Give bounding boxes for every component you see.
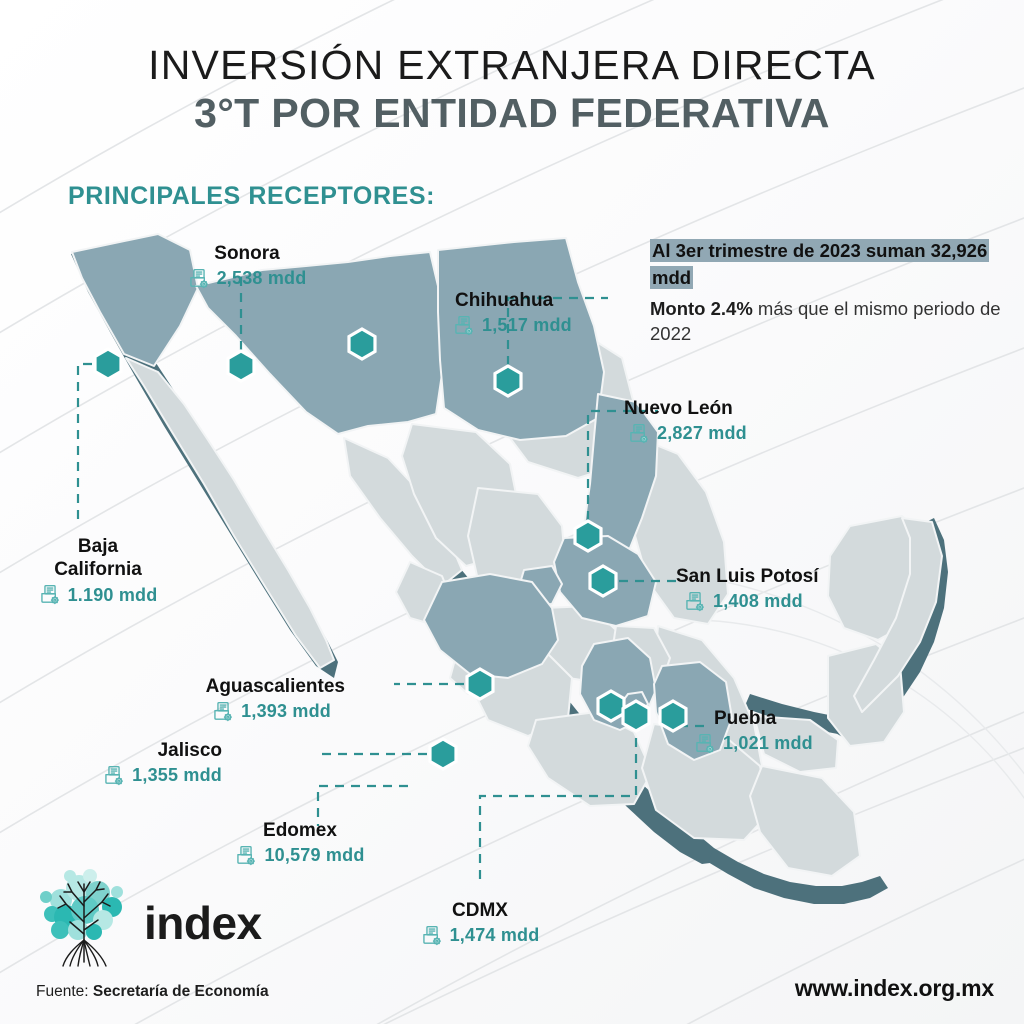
title-line-2: 3°T POR ENTIDAD FEDERATIVA	[0, 91, 1024, 137]
callout-cdmx-value: 1,474 mdd	[450, 925, 540, 946]
callout-chihuahua: Chihuahua 1,517 mdd	[455, 290, 572, 337]
callout-baja-california-name: Baja	[8, 535, 188, 558]
callout-puebla-name: Puebla	[714, 708, 813, 730]
report-gear-icon	[453, 315, 475, 337]
callout-jalisco-value: 1,355 mdd	[132, 765, 222, 786]
callout-chihuahua-name: Chihuahua	[455, 290, 572, 312]
callout-baja-california-name2: California	[8, 558, 188, 581]
marker-chihuahua[interactable]	[495, 366, 521, 396]
infographic-canvas: INVERSIÓN EXTRANJERA DIRECTA 3°T POR ENT…	[0, 0, 1024, 1024]
tree-logo-icon	[30, 862, 138, 967]
callout-edomex-value: 10,579 mdd	[264, 845, 364, 866]
marker-baja-california[interactable]	[228, 351, 254, 381]
brand-logo[interactable]: index	[30, 862, 262, 967]
report-gear-icon	[188, 268, 210, 290]
callout-nuevo-leon-value: 2,827 mdd	[657, 423, 747, 444]
report-gear-icon	[103, 765, 125, 787]
report-gear-icon	[212, 701, 234, 723]
report-gear-icon	[39, 584, 61, 606]
callout-nuevo-leon: Nuevo León 2,827 mdd	[624, 398, 747, 445]
footer-source-label: Fuente:	[36, 983, 89, 1000]
callout-sonora: Sonora 2,538 mdd	[152, 243, 342, 290]
tree-canopy-circles	[40, 869, 123, 940]
report-gear-icon	[628, 423, 650, 445]
callout-chihuahua-value: 1,517 mdd	[482, 315, 572, 336]
callout-baja-california: Baja California 1.190 mdd	[8, 535, 188, 606]
report-gear-icon	[694, 733, 716, 755]
marker-cdmx[interactable]	[623, 701, 649, 731]
callout-edomex: Edomex 10,579 mdd	[200, 820, 400, 867]
callout-san-luis-potosi: San Luis Potosí 1,408 mdd	[676, 566, 819, 613]
footer-source-value: Secretaría de Economía	[93, 983, 269, 1000]
callout-san-luis-potosi-value: 1,408 mdd	[713, 591, 803, 612]
report-gear-icon	[684, 591, 706, 613]
subtitle: PRINCIPALES RECEPTORES:	[68, 182, 435, 211]
footer-source: Fuente: Secretaría de Economía	[36, 983, 269, 1001]
marker-san-luis-potosi[interactable]	[590, 566, 616, 596]
marker-sonora[interactable]	[349, 329, 375, 359]
callout-sonora-value: 2,538 mdd	[217, 268, 307, 289]
callout-aguascalientes-name: Aguascalientes	[140, 676, 345, 698]
marker-baja-norte[interactable]	[95, 349, 121, 379]
callout-cdmx-name: CDMX	[390, 900, 570, 922]
callout-cdmx: CDMX 1,474 mdd	[390, 900, 570, 947]
callout-san-luis-potosi-name: San Luis Potosí	[676, 566, 819, 588]
title-line-1: INVERSIÓN EXTRANJERA DIRECTA	[0, 44, 1024, 87]
marker-puebla[interactable]	[660, 701, 686, 731]
brand-logo-wordmark: index	[144, 900, 262, 946]
report-gear-icon	[421, 925, 443, 947]
callout-puebla: Puebla 1,021 mdd	[714, 708, 813, 755]
marker-nuevo-leon[interactable]	[575, 521, 601, 551]
callout-baja-california-value: 1.190 mdd	[68, 585, 158, 606]
callout-aguascalientes-value: 1,393 mdd	[241, 701, 331, 722]
marker-jalisco[interactable]	[430, 739, 456, 769]
callout-sonora-name: Sonora	[152, 243, 342, 265]
footer-website[interactable]: www.index.org.mx	[795, 975, 994, 1002]
callout-aguascalientes: Aguascalientes 1,393 mdd	[140, 676, 345, 723]
callout-jalisco: Jalisco 1,355 mdd	[50, 740, 222, 787]
callout-nuevo-leon-name: Nuevo León	[624, 398, 747, 420]
callout-jalisco-name: Jalisco	[50, 740, 222, 762]
callout-edomex-name: Edomex	[200, 820, 400, 842]
page-title: INVERSIÓN EXTRANJERA DIRECTA 3°T POR ENT…	[0, 44, 1024, 137]
marker-edomex[interactable]	[598, 691, 624, 721]
callout-puebla-value: 1,021 mdd	[723, 733, 813, 754]
marker-aguascalientes[interactable]	[467, 669, 493, 699]
leader-baja-california	[78, 364, 108, 526]
